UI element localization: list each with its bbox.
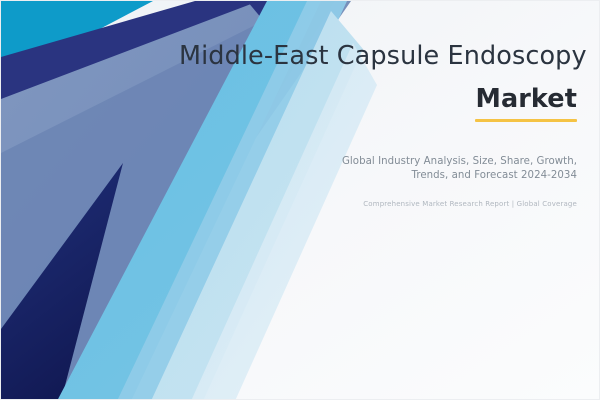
page-title-emphasis: Market [475,84,577,114]
page-title: Middle-East Capsule Endoscopy [179,41,577,71]
report-cover: Middle-East Capsule Endoscopy Market Glo… [0,0,600,400]
subtitle-line-2: Trends, and Forecast 2024-2034 [179,169,577,183]
subtitle: Global Industry Analysis, Size, Share, G… [179,155,577,184]
title-secondary-row: Market [179,85,577,122]
cover-text-block: Middle-East Capsule Endoscopy Market Glo… [179,1,599,208]
title-market-wrap: Market [475,85,577,122]
report-caption: Comprehensive Market Research Report | G… [179,200,577,208]
title-accent-underline [475,119,577,122]
subtitle-line-1: Global Industry Analysis, Size, Share, G… [179,155,577,169]
